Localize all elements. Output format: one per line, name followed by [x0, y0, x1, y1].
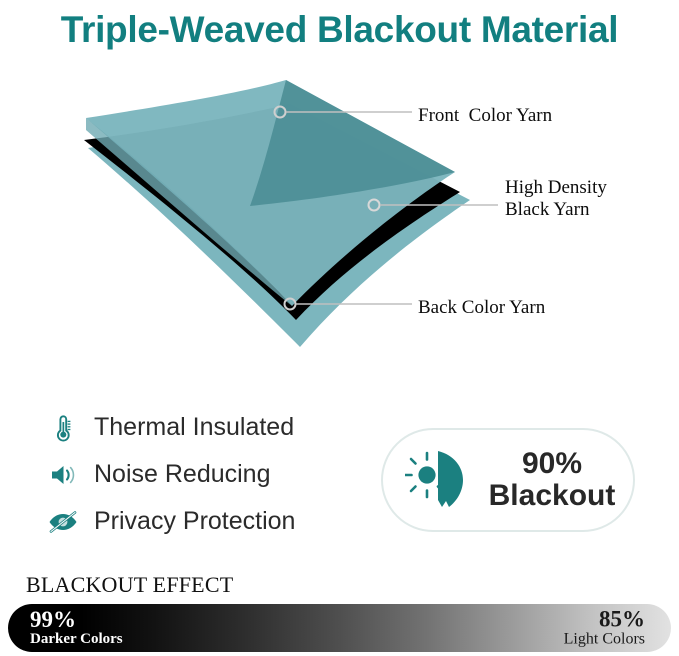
speaker-icon — [46, 458, 80, 492]
bar-light-colors: 85% Light Colors — [564, 608, 645, 649]
fabric-layers-diagram: Front Color Yarn High Density Black Yarn… — [0, 72, 679, 352]
thermometer-icon — [46, 411, 80, 445]
bar-light-percent: 85% — [564, 608, 645, 632]
badge-word: Blackout — [489, 480, 616, 512]
bar-darker-percent: 99% — [30, 608, 123, 632]
blackout-effect-caption: BLACKOUT EFFECT — [26, 572, 233, 598]
callout-front-color-yarn: Front Color Yarn — [418, 105, 552, 127]
eye-off-icon — [46, 505, 80, 539]
badge-percent: 90% — [489, 448, 616, 480]
feature-label-thermal: Thermal Insulated — [94, 413, 294, 442]
sun-blocked-icon — [405, 447, 479, 513]
blackout-badge: 90% Blackout — [381, 428, 635, 532]
blackout-effect-gradient-bar: 99% Darker Colors 85% Light Colors — [8, 604, 671, 652]
page-title: Triple-Weaved Blackout Material — [61, 9, 619, 51]
bar-darker-label: Darker Colors — [30, 632, 123, 648]
badge-text: 90% Blackout — [489, 448, 616, 512]
bar-darker-colors: 99% Darker Colors — [30, 608, 123, 648]
feature-label-privacy: Privacy Protection — [94, 507, 295, 536]
feature-list: Thermal Insulated Noise Reducing Privacy… — [46, 404, 376, 545]
title-bar: Triple-Weaved Blackout Material — [0, 0, 679, 60]
feature-item-noise: Noise Reducing — [46, 451, 376, 498]
bar-light-label: Light Colors — [564, 632, 645, 649]
callout-high-density-black-yarn: High Density Black Yarn — [505, 177, 607, 222]
feature-item-thermal: Thermal Insulated — [46, 404, 376, 451]
feature-label-noise: Noise Reducing — [94, 460, 271, 489]
callout-back-color-yarn: Back Color Yarn — [418, 297, 545, 319]
feature-item-privacy: Privacy Protection — [46, 498, 376, 545]
